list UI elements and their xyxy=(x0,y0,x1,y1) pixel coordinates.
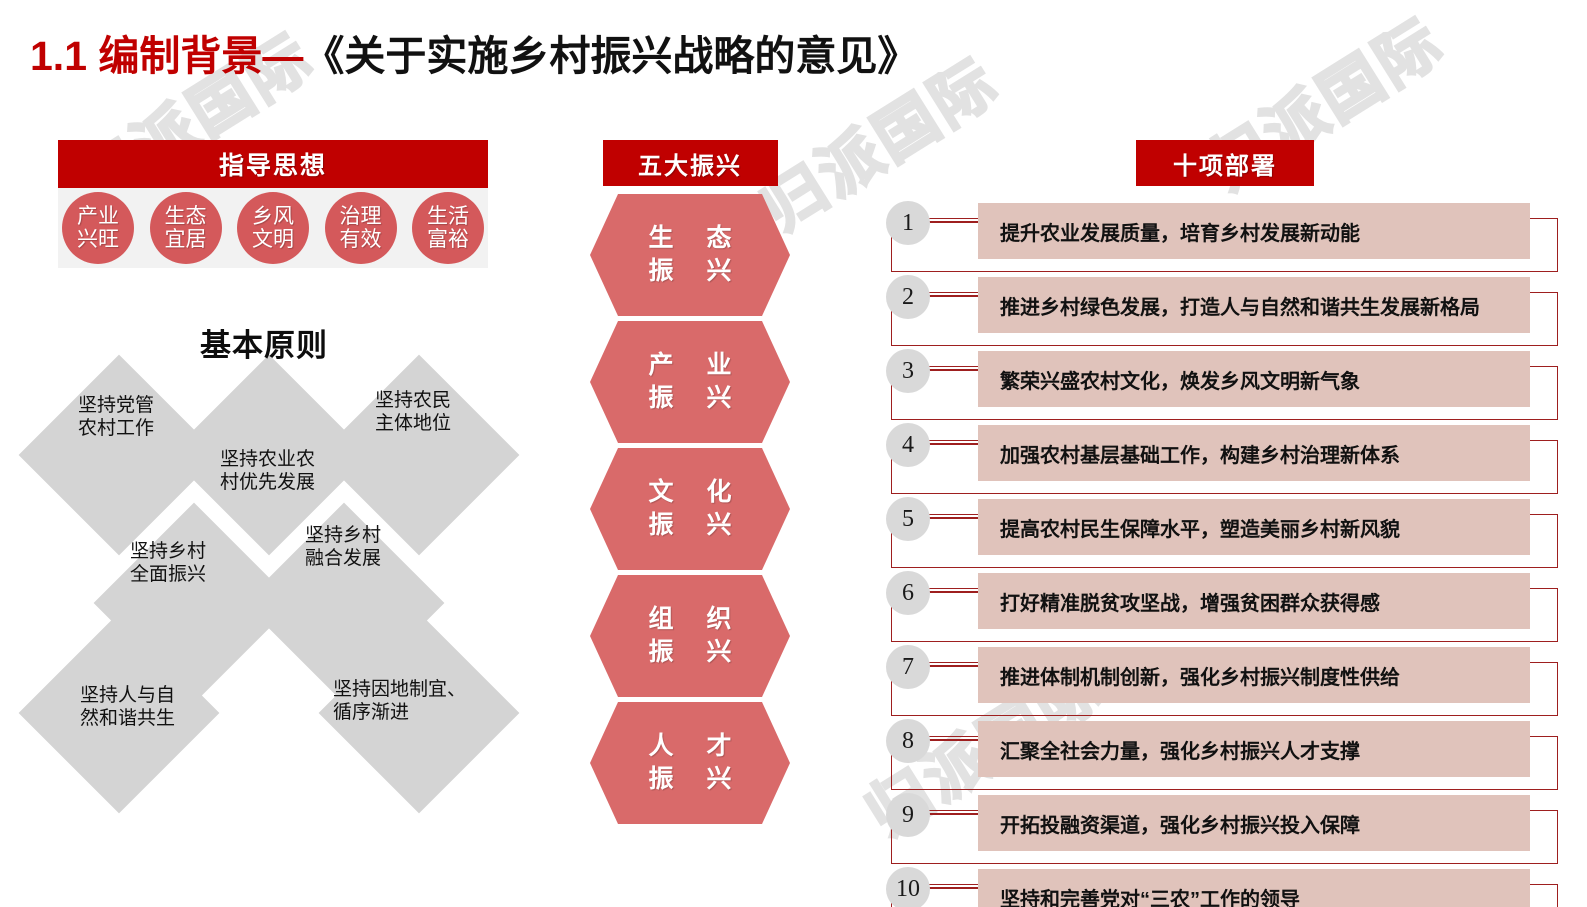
hex-char: 振 xyxy=(648,259,673,284)
guiding-circle-line2: 富裕 xyxy=(427,228,469,251)
guiding-circle[interactable]: 产业 兴旺 xyxy=(62,192,134,264)
guiding-circle-line1: 生活 xyxy=(427,205,469,228)
deployment-text: 加强农村基层基础工作，构建乡村治理新体系 xyxy=(978,439,1400,468)
five-revitalizations-section: 五大振兴 生 态 振 兴 产 业 振 兴 文 化 振 兴 xyxy=(590,140,790,829)
hex-char: 振 xyxy=(648,513,673,538)
hex-char: 振 xyxy=(648,386,673,411)
hex-char: 才 xyxy=(706,734,731,759)
deployment-text: 提高农村民生保障水平，塑造美丽乡村新风貌 xyxy=(978,513,1400,542)
deployment-row[interactable]: 9 开拓投融资渠道，强化乡村振兴投入保障 xyxy=(880,790,1570,860)
page-title-prefix: 1.1 编制背景— xyxy=(30,33,303,79)
page-title-rest: 《关于实施乡村振兴战略的意见》 xyxy=(303,33,918,79)
deployment-bar: 提升农业发展质量，培育乡村发展新动能 xyxy=(978,203,1530,259)
hex-char: 态 xyxy=(706,226,731,251)
hex-char: 产 xyxy=(648,353,673,378)
deployment-bar: 汇聚全社会力量，强化乡村振兴人才支撑 xyxy=(978,721,1530,777)
revitalization-hexagon-label: 生 态 振 兴 xyxy=(590,194,790,316)
deployment-number-badge: 3 xyxy=(886,349,930,393)
principle-label-line1: 坚持人与自 xyxy=(80,684,175,707)
deployment-bar: 开拓投融资渠道，强化乡村振兴投入保障 xyxy=(978,795,1530,851)
deployment-bar: 繁荣兴盛农村文化，焕发乡风文明新气象 xyxy=(978,351,1530,407)
guiding-circle-line2: 有效 xyxy=(340,228,382,251)
hex-char: 织 xyxy=(706,607,731,632)
principle-label-line2: 农村工作 xyxy=(78,417,154,440)
guiding-circle[interactable]: 生态 宜居 xyxy=(150,192,222,264)
deployment-text: 提升农业发展质量，培育乡村发展新动能 xyxy=(978,217,1360,246)
deployment-row[interactable]: 10 坚持和完善党对“三农”工作的领导 xyxy=(880,864,1570,907)
principle-label-line1: 坚持乡村 xyxy=(130,540,206,563)
deployment-bar: 推进体制机制创新，强化乡村振兴制度性供给 xyxy=(978,647,1530,703)
ten-deployments-list: 1 提升农业发展质量，培育乡村发展新动能 2 推进乡村绿色发展，打造人与自然和谐… xyxy=(880,198,1570,907)
deployment-number-badge: 10 xyxy=(886,867,930,907)
guiding-circle-line2: 宜居 xyxy=(165,228,207,251)
five-revitalizations-header: 五大振兴 xyxy=(603,140,778,186)
revitalization-hexagon-label: 组 织 振 兴 xyxy=(590,575,790,697)
principle-label: 坚持乡村 融合发展 xyxy=(305,524,381,570)
revitalization-hexagon[interactable]: 文 化 振 兴 xyxy=(590,448,790,570)
ten-deployments-section: 十项部署 1 提升农业发展质量，培育乡村发展新动能 2 推进乡村绿色发展，打造人… xyxy=(880,140,1570,907)
deployment-bar: 推进乡村绿色发展，打造人与自然和谐共生发展新格局 xyxy=(978,277,1530,333)
guiding-circle[interactable]: 生活 富裕 xyxy=(412,192,484,264)
deployment-row[interactable]: 2 推进乡村绿色发展，打造人与自然和谐共生发展新格局 xyxy=(880,272,1570,342)
deployment-row[interactable]: 5 提高农村民生保障水平，塑造美丽乡村新风貌 xyxy=(880,494,1570,564)
deployment-row[interactable]: 1 提升农业发展质量，培育乡村发展新动能 xyxy=(880,198,1570,268)
principle-label: 坚持党管 农村工作 xyxy=(78,394,154,440)
deployment-number-badge: 4 xyxy=(886,423,930,467)
deployment-bar: 打好精准脱贫攻坚战，增强贫困群众获得感 xyxy=(978,573,1530,629)
guiding-ideology-header: 指导思想 xyxy=(58,140,488,188)
hex-char: 兴 xyxy=(706,259,731,284)
guiding-circle-line1: 治理 xyxy=(340,205,382,228)
hex-char: 振 xyxy=(648,640,673,665)
deployment-row[interactable]: 7 推进体制机制创新，强化乡村振兴制度性供给 xyxy=(880,642,1570,712)
deployment-bar: 提高农村民生保障水平，塑造美丽乡村新风貌 xyxy=(978,499,1530,555)
deployment-number-badge: 9 xyxy=(886,793,930,837)
principle-label: 坚持农业农 村优先发展 xyxy=(220,448,315,494)
deployment-text: 坚持和完善党对“三农”工作的领导 xyxy=(978,883,1300,907)
ten-deployments-header: 十项部署 xyxy=(1136,140,1314,186)
deployment-number-badge: 7 xyxy=(886,645,930,689)
basic-principles-header: 基本原则 xyxy=(200,320,328,365)
principle-label-line2: 循序渐进 xyxy=(333,701,466,724)
deployment-row[interactable]: 4 加强农村基层基础工作，构建乡村治理新体系 xyxy=(880,420,1570,490)
guiding-circle[interactable]: 治理 有效 xyxy=(325,192,397,264)
guiding-circle-line2: 兴旺 xyxy=(77,228,119,251)
principle-label-line2: 主体地位 xyxy=(375,412,451,435)
principle-label: 坚持乡村 全面振兴 xyxy=(130,540,206,586)
deployment-bar: 加强农村基层基础工作，构建乡村治理新体系 xyxy=(978,425,1530,481)
deployment-row[interactable]: 6 打好精准脱贫攻坚战，增强贫困群众获得感 xyxy=(880,568,1570,638)
principle-label: 坚持人与自 然和谐共生 xyxy=(80,684,175,730)
hex-char: 化 xyxy=(706,480,731,505)
revitalization-hexagon[interactable]: 生 态 振 兴 xyxy=(590,194,790,316)
principle-label-line2: 然和谐共生 xyxy=(80,707,175,730)
principle-label: 坚持农民 主体地位 xyxy=(375,389,451,435)
slide-canvas: 归派国际 归派国际 归派国际 归派国际 1.1 编制背景—《关于实施乡村振兴战略… xyxy=(0,0,1587,907)
deployment-number-badge: 6 xyxy=(886,571,930,615)
deployment-text: 繁荣兴盛农村文化，焕发乡风文明新气象 xyxy=(978,365,1360,394)
hex-char: 兴 xyxy=(706,640,731,665)
hex-char: 兴 xyxy=(706,513,731,538)
principle-label-line1: 坚持农业农 xyxy=(220,448,315,471)
principle-label: 坚持因地制宜、 循序渐进 xyxy=(333,678,466,724)
hex-char: 业 xyxy=(706,353,731,378)
revitalization-hexagon[interactable]: 组 织 振 兴 xyxy=(590,575,790,697)
principle-label-line1: 坚持党管 xyxy=(78,394,154,417)
deployment-number-badge: 8 xyxy=(886,719,930,763)
guiding-circle-line1: 产业 xyxy=(77,205,119,228)
guiding-ideology-circle-row: 产业 兴旺 生态 宜居 乡风 文明 治理 有效 生活 富裕 xyxy=(58,188,488,268)
deployment-text: 推进乡村绿色发展，打造人与自然和谐共生发展新格局 xyxy=(978,291,1480,320)
hex-char: 组 xyxy=(648,607,673,632)
hex-char: 人 xyxy=(648,734,673,759)
revitalization-hexagon[interactable]: 产 业 振 兴 xyxy=(590,321,790,443)
deployment-number-badge: 5 xyxy=(886,497,930,541)
principle-label-line2: 全面振兴 xyxy=(130,563,206,586)
guiding-ideology-section: 指导思想 产业 兴旺 生态 宜居 乡风 文明 治理 有效 生活 富裕 xyxy=(58,140,488,268)
revitalization-hexagon-label: 产 业 振 兴 xyxy=(590,321,790,443)
deployment-text: 推进体制机制创新，强化乡村振兴制度性供给 xyxy=(978,661,1400,690)
guiding-circle-line1: 生态 xyxy=(165,205,207,228)
page-title: 1.1 编制背景—《关于实施乡村振兴战略的意见》 xyxy=(30,22,918,82)
deployment-bar: 坚持和完善党对“三农”工作的领导 xyxy=(978,869,1530,907)
principle-label-line2: 村优先发展 xyxy=(220,471,315,494)
guiding-circle-line2: 文明 xyxy=(252,228,294,251)
revitalization-hexagon-label: 人 才 振 兴 xyxy=(590,702,790,824)
hex-char: 兴 xyxy=(706,767,731,792)
hex-char: 兴 xyxy=(706,386,731,411)
hex-char: 文 xyxy=(648,480,673,505)
basic-principles-section: 基本原则 坚持党管 农村工作 坚持农业农 村优先发展 坚持农民 主体地位 坚持乡… xyxy=(40,312,540,812)
revitalization-hexagon-label: 文 化 振 兴 xyxy=(590,448,790,570)
hex-char: 振 xyxy=(648,767,673,792)
deployment-number-badge: 1 xyxy=(886,201,930,245)
principle-label-line2: 融合发展 xyxy=(305,547,381,570)
revitalization-hexagon[interactable]: 人 才 振 兴 xyxy=(590,702,790,824)
deployment-number-badge: 2 xyxy=(886,275,930,319)
deployment-row[interactable]: 3 繁荣兴盛农村文化，焕发乡风文明新气象 xyxy=(880,346,1570,416)
principle-label-line1: 坚持因地制宜、 xyxy=(333,678,466,701)
principle-label-line1: 坚持乡村 xyxy=(305,524,381,547)
hex-char: 生 xyxy=(648,226,673,251)
deployment-row[interactable]: 8 汇聚全社会力量，强化乡村振兴人才支撑 xyxy=(880,716,1570,786)
guiding-circle-line1: 乡风 xyxy=(252,205,294,228)
principle-label-line1: 坚持农民 xyxy=(375,389,451,412)
deployment-text: 开拓投融资渠道，强化乡村振兴投入保障 xyxy=(978,809,1360,838)
guiding-circle[interactable]: 乡风 文明 xyxy=(237,192,309,264)
deployment-text: 打好精准脱贫攻坚战，增强贫困群众获得感 xyxy=(978,587,1380,616)
deployment-text: 汇聚全社会力量，强化乡村振兴人才支撑 xyxy=(978,735,1360,764)
